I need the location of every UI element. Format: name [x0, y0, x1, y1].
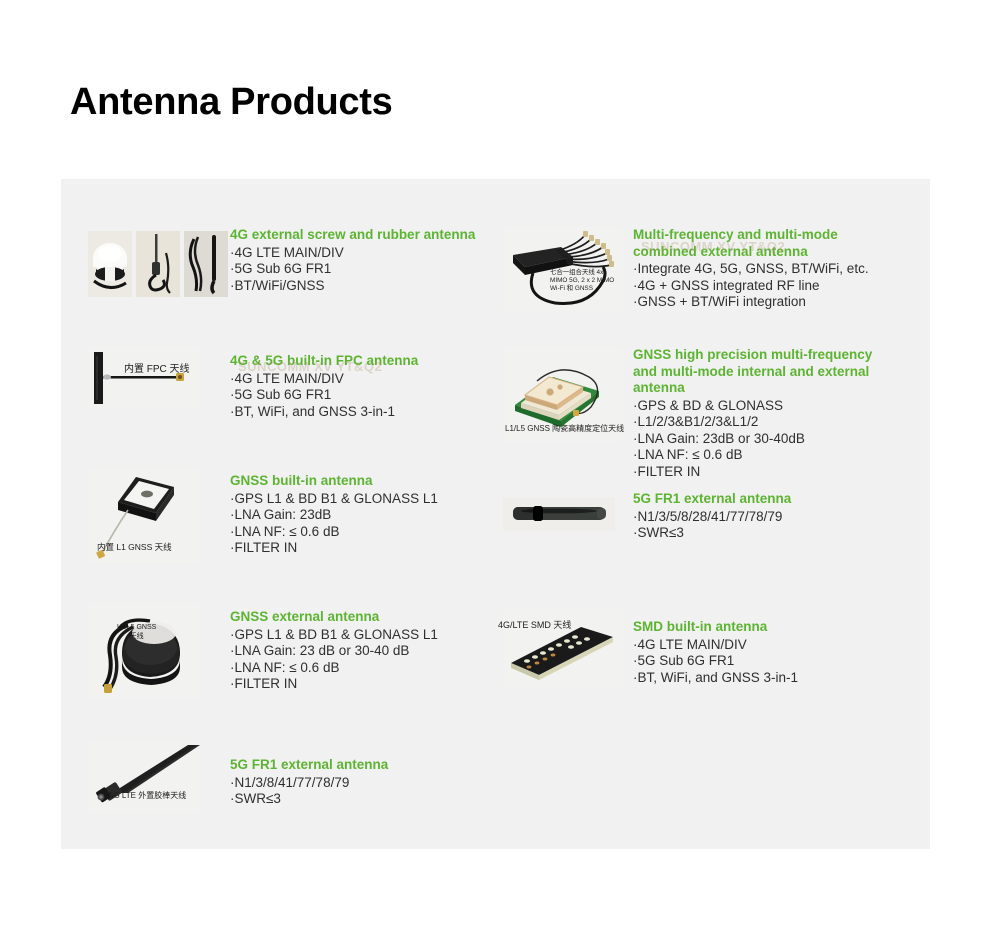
photo-5g-fr1-rubber-rod [88, 741, 200, 813]
products-panel: 4G external screw and rubber antenna ·4G… [61, 179, 930, 849]
product-spec: ·GPS L1 & BD B1 & GLONASS L1 [230, 491, 496, 508]
product-thumbnail: 内置 L1 GNSS 天线 [61, 467, 230, 564]
product-spec: ·BT, WiFi, and GNSS 3-in-1 [230, 404, 496, 421]
product-text: SUNCOMM XV YT&Q2 Multi-frequency and mul… [633, 225, 931, 311]
product-spec: ·FILTER IN [633, 464, 931, 481]
product-text: GNSS built-in antenna ·GPS L1 & BD B1 & … [230, 467, 496, 557]
page-title: Antenna Products [70, 81, 392, 124]
product-card-gnss-high-precision[interactable]: L1/L5 GNSS 陶瓷高精度定位天线 GNSS high precision… [496, 345, 931, 480]
photo-caption: L1/L5 GNSS 陶瓷高精度定位天线 [505, 424, 624, 433]
photo-4g-external-screw-rubber [88, 231, 230, 297]
product-text: 4G external screw and rubber antenna ·4G… [230, 225, 496, 294]
product-card-4g-external-screw-rubber[interactable]: 4G external screw and rubber antenna ·4G… [61, 225, 496, 297]
product-spec: ·LNA Gain: 23 dB or 30-40 dB [230, 643, 496, 660]
product-title: 4G & 5G built-in FPC antenna [230, 353, 496, 370]
products-column-right: 七合一组合天线 4x4MIMO 5G, 2 x 2 MIMOWi-Fi 和 GN… [496, 179, 931, 849]
photo-mushroom-antenna [88, 231, 132, 297]
product-text: GNSS external antenna ·GPS L1 & BD B1 & … [230, 601, 496, 693]
product-card-multi-freq-combined[interactable]: 七合一组合天线 4x4MIMO 5G, 2 x 2 MIMOWi-Fi 和 GN… [496, 225, 931, 311]
product-card-gnss-built-in[interactable]: 内置 L1 GNSS 天线 GNSS built-in antenna ·GPS… [61, 467, 496, 564]
photo-caption: 内置 L1 GNSS 天线 [97, 543, 172, 552]
product-thumbnail [61, 225, 230, 297]
product-title: 5G FR1 external antenna [633, 491, 931, 508]
product-spec: ·4G LTE MAIN/DIV [230, 245, 496, 262]
product-title: 5G FR1 external antenna [230, 757, 496, 774]
product-text: SMD built-in antenna ·4G LTE MAIN/DIV ·5… [633, 607, 931, 686]
product-spec: ·SWR≤3 [633, 525, 931, 542]
product-spec: ·5G Sub 6G FR1 [230, 261, 496, 278]
product-spec: ·Integrate 4G, 5G, GNSS, BT/WiFi, etc. [633, 261, 931, 278]
product-thumbnail: 4G/LTE SMD 天线 [496, 607, 633, 687]
photo-coiled-cable-antenna [184, 231, 228, 297]
photo-caption: 5G LTE 外置胶棒天线 [109, 791, 186, 800]
product-title: Multi-frequency and multi-mode combined … [633, 227, 883, 260]
product-spec: ·5G Sub 6G FR1 [230, 387, 496, 404]
product-spec: ·4G + GNSS integrated RF line [633, 278, 931, 295]
product-spec: ·BT/WiFi/GNSS [230, 278, 496, 295]
product-title: GNSS high precision multi-frequency and … [633, 347, 883, 397]
product-spec: ·N1/3/5/8/28/41/77/78/79 [633, 509, 931, 526]
product-spec: ·4G LTE MAIN/DIV [230, 371, 496, 388]
photo-caption: 七合一组合天线 4x4MIMO 5G, 2 x 2 MIMOWi-Fi 和 GN… [550, 269, 614, 293]
product-text: SUNCOMM XV YT&Q2 4G & 5G built-in FPC an… [230, 345, 496, 420]
product-thumbnail [496, 491, 633, 531]
photo-caption: 4G/LTE SMD 天线 [498, 621, 571, 630]
product-title: GNSS external antenna [230, 609, 496, 626]
product-card-4g-5g-built-in-fpc[interactable]: 内置 FPC 天线 SUNCOMM XV YT&Q2 4G & 5G built… [61, 345, 496, 420]
product-thumbnail: L1/L5 GNSS 陶瓷高精度定位天线 [496, 345, 633, 442]
product-thumbnail: 内置 FPC 天线 [61, 345, 230, 409]
product-card-gnss-external[interactable]: L1/L5 GNSS天线 GNSS external antenna ·GPS … [61, 601, 496, 698]
product-text: GNSS high precision multi-frequency and … [633, 345, 931, 480]
product-card-5g-fr1-external-right[interactable]: 5G FR1 external antenna ·N1/3/5/8/28/41/… [496, 491, 931, 542]
product-title: GNSS built-in antenna [230, 473, 496, 490]
product-spec: ·FILTER IN [230, 676, 496, 693]
photo-fpc-antenna [88, 347, 200, 409]
products-column-left: 4G external screw and rubber antenna ·4G… [61, 179, 496, 849]
product-spec: ·4G LTE MAIN/DIV [633, 637, 931, 654]
photo-whip-antenna [136, 231, 180, 297]
photo-caption: L1/L5 GNSS天线 [117, 623, 156, 641]
product-spec: ·N1/3/8/41/77/78/79 [230, 775, 496, 792]
product-spec: ·LNA Gain: 23dB or 30-40dB [633, 431, 931, 448]
photo-5g-fr1-stubby [503, 497, 615, 531]
product-card-smd-built-in[interactable]: 4G/LTE SMD 天线 SMD built-in antenna ·4G L… [496, 607, 931, 687]
product-spec: ·BT, WiFi, and GNSS 3-in-1 [633, 670, 931, 687]
product-spec: ·5G Sub 6G FR1 [633, 653, 931, 670]
product-spec: ·LNA NF: ≤ 0.6 dB [633, 447, 931, 464]
product-title: 4G external screw and rubber antenna [230, 227, 496, 244]
product-title: SMD built-in antenna [633, 619, 931, 636]
product-thumbnail: 5G LTE 外置胶棒天线 [61, 739, 230, 813]
product-spec: ·LNA Gain: 23dB [230, 507, 496, 524]
photo-gnss-external [88, 603, 200, 698]
product-spec: ·FILTER IN [230, 540, 496, 557]
product-spec: ·L1/2/3&B1/2/3&L1/2 [633, 414, 931, 431]
product-thumbnail: 七合一组合天线 4x4MIMO 5G, 2 x 2 MIMOWi-Fi 和 GN… [496, 225, 633, 311]
product-spec: ·GNSS + BT/WiFi integration [633, 294, 931, 311]
product-spec: ·SWR≤3 [230, 791, 496, 808]
photo-caption: 内置 FPC 天线 [124, 365, 190, 374]
product-text: 5G FR1 external antenna ·N1/3/8/41/77/78… [230, 739, 496, 808]
product-thumbnail: L1/L5 GNSS天线 [61, 601, 230, 698]
product-spec: ·LNA NF: ≤ 0.6 dB [230, 660, 496, 677]
product-spec: ·GPS & BD & GLONASS [633, 398, 931, 415]
product-spec: ·GPS L1 & BD B1 & GLONASS L1 [230, 627, 496, 644]
product-card-5g-fr1-external-left[interactable]: 5G LTE 外置胶棒天线 5G FR1 external antenna ·N… [61, 739, 496, 813]
product-spec: ·LNA NF: ≤ 0.6 dB [230, 524, 496, 541]
product-text: 5G FR1 external antenna ·N1/3/5/8/28/41/… [633, 491, 931, 542]
